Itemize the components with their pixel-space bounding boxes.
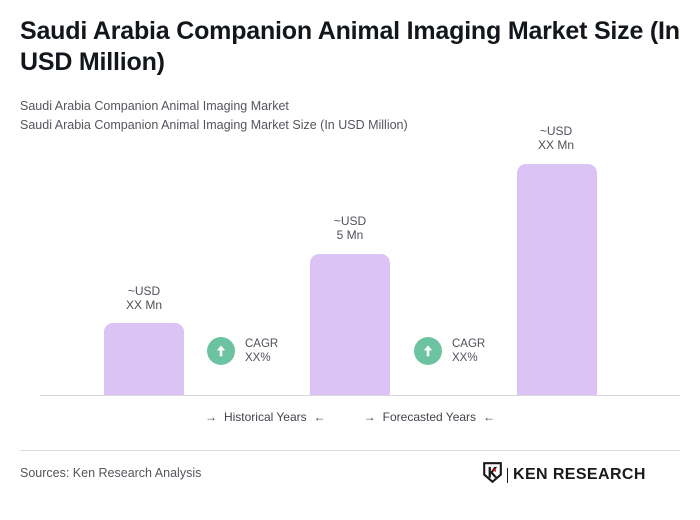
cagr-badge-historical-line1: CAGR	[245, 337, 278, 351]
footer-divider	[20, 450, 680, 451]
period-forecasted-years-label: Forecasted Years	[383, 410, 476, 424]
cagr-badge-historical-line2: XX%	[245, 351, 278, 365]
bar-value-label-2: ~USD 5 Mn	[290, 214, 410, 242]
bar-value-label-2-line2: 5 Mn	[290, 228, 410, 242]
x-axis-baseline	[40, 395, 680, 396]
arrow-up-icon	[414, 337, 442, 365]
cagr-badge-historical: CAGR XX%	[207, 337, 278, 365]
sources-text: Sources: Ken Research Analysis	[20, 465, 201, 481]
cagr-badge-forecasted-text: CAGR XX%	[452, 337, 485, 365]
arrow-right-icon: →	[205, 410, 217, 424]
bar-value-label-3: ~USD XX Mn	[496, 124, 616, 152]
arrow-left-icon: ←	[314, 410, 326, 424]
arrow-left-icon: ←	[483, 410, 495, 424]
arrow-right-icon: →	[364, 410, 376, 424]
ken-research-logo-mark	[483, 462, 502, 488]
logo-divider	[507, 468, 508, 483]
period-legend: → Historical Years ← → Forecasted Years …	[0, 410, 700, 424]
bar-value-label-2-line1: ~USD	[290, 214, 410, 228]
period-historical-years-label: Historical Years	[224, 410, 307, 424]
bar-value-label-1-line1: ~USD	[84, 284, 204, 298]
bar-value-label-3-line2: XX Mn	[496, 138, 616, 152]
bar-chart-plot-area: ~USD XX Mn ~USD 5 Mn ~USD XX Mn CAGR XX%	[0, 0, 700, 440]
cagr-badge-forecasted: CAGR XX%	[414, 337, 485, 365]
bar-forecasted[interactable]	[517, 164, 597, 395]
bar-value-label-3-line1: ~USD	[496, 124, 616, 138]
bar-value-label-1-line2: XX Mn	[84, 298, 204, 312]
cagr-badge-historical-text: CAGR XX%	[245, 337, 278, 365]
arrow-up-icon	[207, 337, 235, 365]
cagr-badge-forecasted-line1: CAGR	[452, 337, 485, 351]
bar-value-label-1: ~USD XX Mn	[84, 284, 204, 312]
ken-research-logo-text: KEN RESEARCH	[513, 466, 646, 484]
period-historical-years: → Historical Years ←	[205, 410, 326, 424]
bar-historical[interactable]	[104, 323, 184, 395]
ken-research-logo: KEN RESEARCH	[483, 462, 646, 488]
bar-base-year[interactable]	[310, 254, 390, 395]
chart-page: Saudi Arabia Companion Animal Imaging Ma…	[0, 0, 700, 520]
period-forecasted-years: → Forecasted Years ←	[364, 410, 495, 424]
cagr-badge-forecasted-line2: XX%	[452, 351, 485, 365]
